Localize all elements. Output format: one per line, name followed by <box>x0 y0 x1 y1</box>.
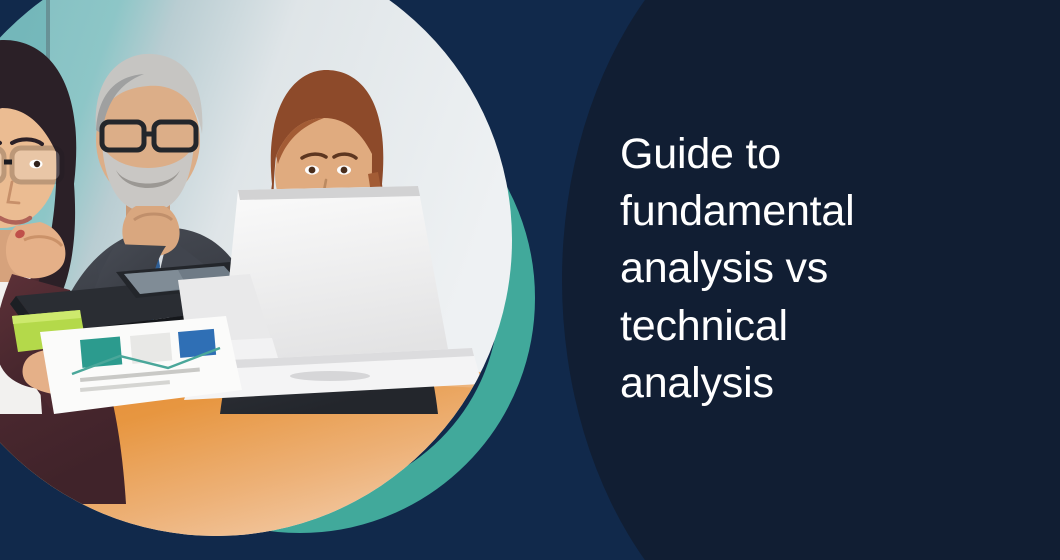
page-title: Guide to fundamental analysis vs technic… <box>620 126 980 412</box>
hero-banner: Guide to fundamental analysis vs technic… <box>0 0 1060 560</box>
title-block: Guide to fundamental analysis vs technic… <box>620 126 980 412</box>
